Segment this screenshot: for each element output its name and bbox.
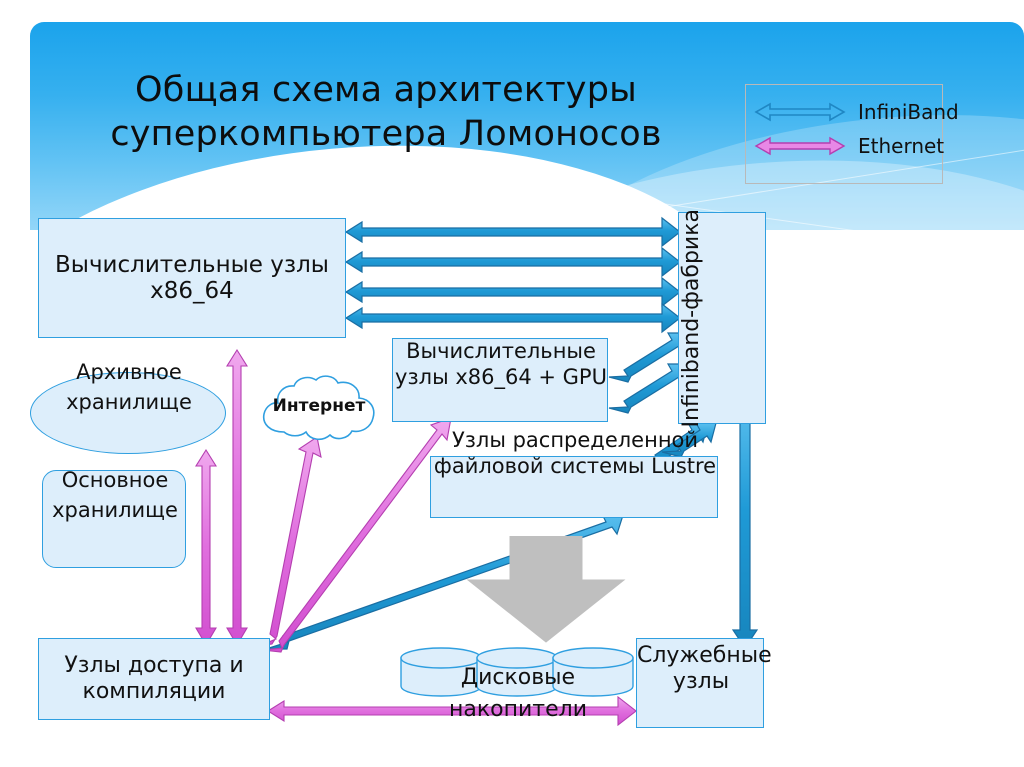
node-access-nodes[interactable]: Узлы доступа и компиляции [38,638,270,720]
connector-access-internet [259,437,321,646]
node-gpu-nodes-label: Вычислительные узлы x86_64 + GPU [391,338,611,390]
node-compute-nodes[interactable]: Вычислительные узлы x86_64 [38,218,346,338]
connector-fabric-service [733,398,757,648]
block-arrow-down-icon [466,536,626,644]
connector-compute-fabric [346,218,680,332]
node-internet[interactable]: Интернет [258,374,380,442]
node-service-nodes-label: Служебные узлы [637,643,765,695]
node-lustre-nodes[interactable]: Узлы распределенной файловой системы Lus… [430,456,718,518]
node-main-storage-label: Основное хранилище [35,465,195,525]
node-main-storage[interactable]: Основное хранилище [42,470,186,568]
node-internet-label: Интернет [258,396,380,416]
connector-access-archive [227,350,247,645]
slide-canvas: Общая схема архитектуры суперкомпьютера … [0,0,1024,767]
node-infiniband-fabric-label: Infiniband-фабрика [679,209,765,428]
node-archive-storage-label: Архивное хранилище [31,357,227,417]
node-access-nodes-label: Узлы доступа и компиляции [39,653,269,705]
node-disks-label: Дисковые накопители [398,662,638,726]
node-gpu-nodes[interactable]: Вычислительные узлы x86_64 + GPU [392,338,608,422]
node-infiniband-fabric[interactable]: Infiniband-фабрика [678,212,766,424]
connector-gpu-fabric [609,333,688,413]
node-archive-storage[interactable]: Архивное хранилище [30,372,226,454]
node-service-nodes[interactable]: Служебные узлы [636,638,764,728]
node-lustre-nodes-label: Узлы распределенной файловой системы Lus… [431,427,719,479]
node-compute-nodes-label: Вычислительные узлы x86_64 [39,252,345,304]
connector-access-main-storage [196,450,216,645]
